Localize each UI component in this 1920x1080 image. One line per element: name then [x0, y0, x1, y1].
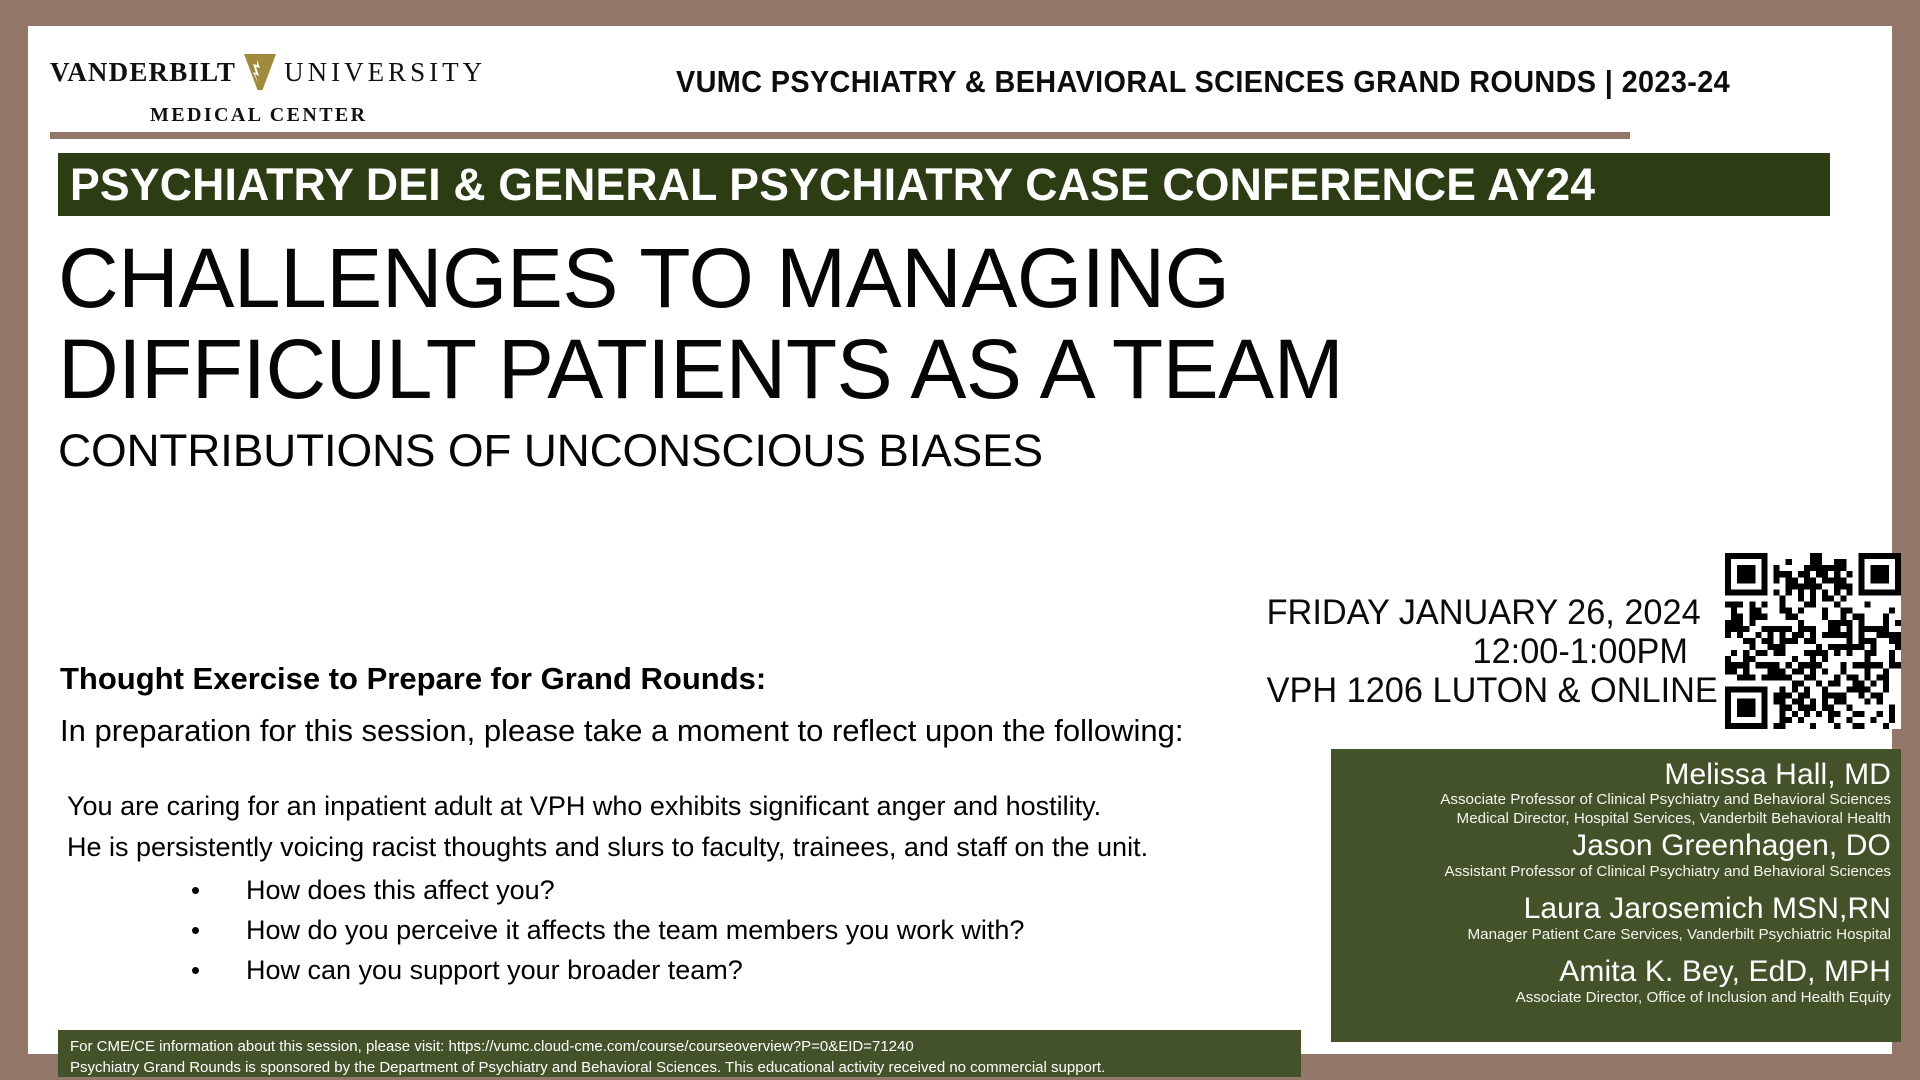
speaker-entry: Melissa Hall, MD Associate Professor of …	[1345, 759, 1891, 828]
logo-secondary-line: MEDICAL CENTER	[150, 104, 450, 127]
thought-exercise-section: Thought Exercise to Prepare for Grand Ro…	[60, 661, 1290, 995]
speaker-affiliation: Assistant Professor of Clinical Psychiat…	[1345, 863, 1891, 882]
speaker-entry: Laura Jarosemich MSN,RN Manager Patient …	[1345, 893, 1891, 944]
speaker-name: Amita K. Bey, EdD, MPH	[1345, 956, 1891, 988]
bullet-icon	[192, 967, 199, 974]
poster-frame: VANDERBILT UNIVERSITY MEDICAL CENTER VUM…	[0, 0, 1920, 1080]
cme-footer-bar: For CME/CE information about this sessio…	[58, 1030, 1301, 1077]
grand-rounds-series-title: VUMC PSYCHIATRY & BEHAVIORAL SCIENCES GR…	[594, 64, 1812, 100]
speakers-panel: Melissa Hall, MD Associate Professor of …	[1331, 749, 1901, 1042]
speaker-name: Melissa Hall, MD	[1345, 759, 1891, 791]
speaker-name: Laura Jarosemich MSN,RN	[1345, 893, 1891, 925]
list-item: How do you perceive it affects the team …	[192, 915, 1290, 946]
title-line-1: CHALLENGES TO MANAGING	[58, 238, 1478, 319]
cme-sponsor-line: Psychiatry Grand Rounds is sponsored by …	[70, 1057, 1293, 1078]
speaker-affiliation: Associate Director, Office of Inclusion …	[1345, 989, 1891, 1008]
thought-exercise-heading: Thought Exercise to Prepare for Grand Ro…	[60, 661, 1290, 697]
list-item: How does this affect you?	[192, 875, 1290, 906]
event-date: FRIDAY JANUARY 26, 2024	[1267, 593, 1688, 632]
logo-primary-line: VANDERBILT UNIVERSITY	[50, 52, 450, 92]
event-time: 12:00-1:00PM	[1267, 632, 1688, 671]
header-divider-rule	[50, 132, 1630, 139]
vanderbilt-v-icon	[243, 52, 277, 92]
cme-info-line: For CME/CE information about this sessio…	[70, 1036, 1293, 1057]
speaker-entry: Amita K. Bey, EdD, MPH Associate Directo…	[1345, 956, 1891, 1007]
thought-exercise-intro: In preparation for this session, please …	[60, 713, 1290, 749]
event-details: FRIDAY JANUARY 26, 2024 12:00-1:00PM VPH…	[1258, 593, 1688, 711]
scenario-line-1: You are caring for an inpatient adult at…	[67, 791, 1290, 822]
bullet-icon	[192, 887, 199, 894]
speaker-name: Jason Greenhagen, DO	[1345, 830, 1891, 862]
speaker-affiliation: Associate Professor of Clinical Psychiat…	[1345, 791, 1891, 810]
conference-banner-label: PSYCHIATRY DEI & GENERAL PSYCHIATRY CASE…	[70, 159, 1595, 211]
speaker-affiliation: Medical Director, Hospital Services, Van…	[1345, 810, 1891, 829]
logo-word-vanderbilt: VANDERBILT	[50, 57, 236, 88]
reflection-question-text: How does this affect you?	[246, 875, 555, 905]
list-item: How can you support your broader team?	[192, 955, 1290, 986]
page-title: CHALLENGES TO MANAGING DIFFICULT PATIENT…	[58, 238, 1478, 477]
event-location: VPH 1206 LUTON & ONLINE	[1267, 671, 1688, 710]
bullet-icon	[192, 927, 199, 934]
title-subtitle: CONTRIBUTIONS OF UNCONSCIOUS BIASES	[58, 425, 1506, 477]
scenario-line-2: He is persistently voicing racist though…	[67, 832, 1290, 863]
reflection-question-text: How do you perceive it affects the team …	[246, 915, 1024, 945]
reflection-questions-list: How does this affect you? How do you per…	[192, 875, 1290, 986]
poster-canvas: VANDERBILT UNIVERSITY MEDICAL CENTER VUM…	[28, 26, 1892, 1054]
logo-word-university: UNIVERSITY	[284, 57, 486, 88]
qr-code-icon[interactable]	[1725, 553, 1901, 729]
vanderbilt-university-medical-center-logo: VANDERBILT UNIVERSITY MEDICAL CENTER	[50, 52, 450, 134]
speaker-affiliation: Manager Patient Care Services, Vanderbil…	[1345, 926, 1891, 945]
reflection-question-text: How can you support your broader team?	[246, 955, 743, 985]
title-line-2: DIFFICULT PATIENTS AS A TEAM	[58, 329, 1478, 410]
conference-banner: PSYCHIATRY DEI & GENERAL PSYCHIATRY CASE…	[58, 153, 1830, 216]
speaker-entry: Jason Greenhagen, DO Assistant Professor…	[1345, 830, 1891, 881]
